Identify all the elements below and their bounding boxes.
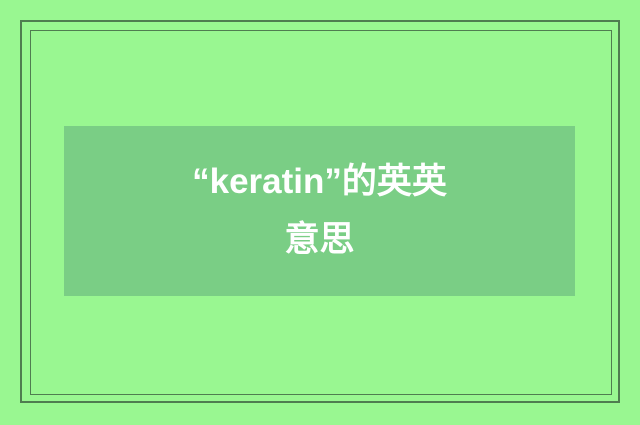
banner-panel: “keratin”的英英意思: [64, 126, 575, 296]
banner-title: “keratin”的英英意思: [190, 153, 450, 269]
page-canvas: “keratin”的英英意思: [0, 0, 640, 425]
